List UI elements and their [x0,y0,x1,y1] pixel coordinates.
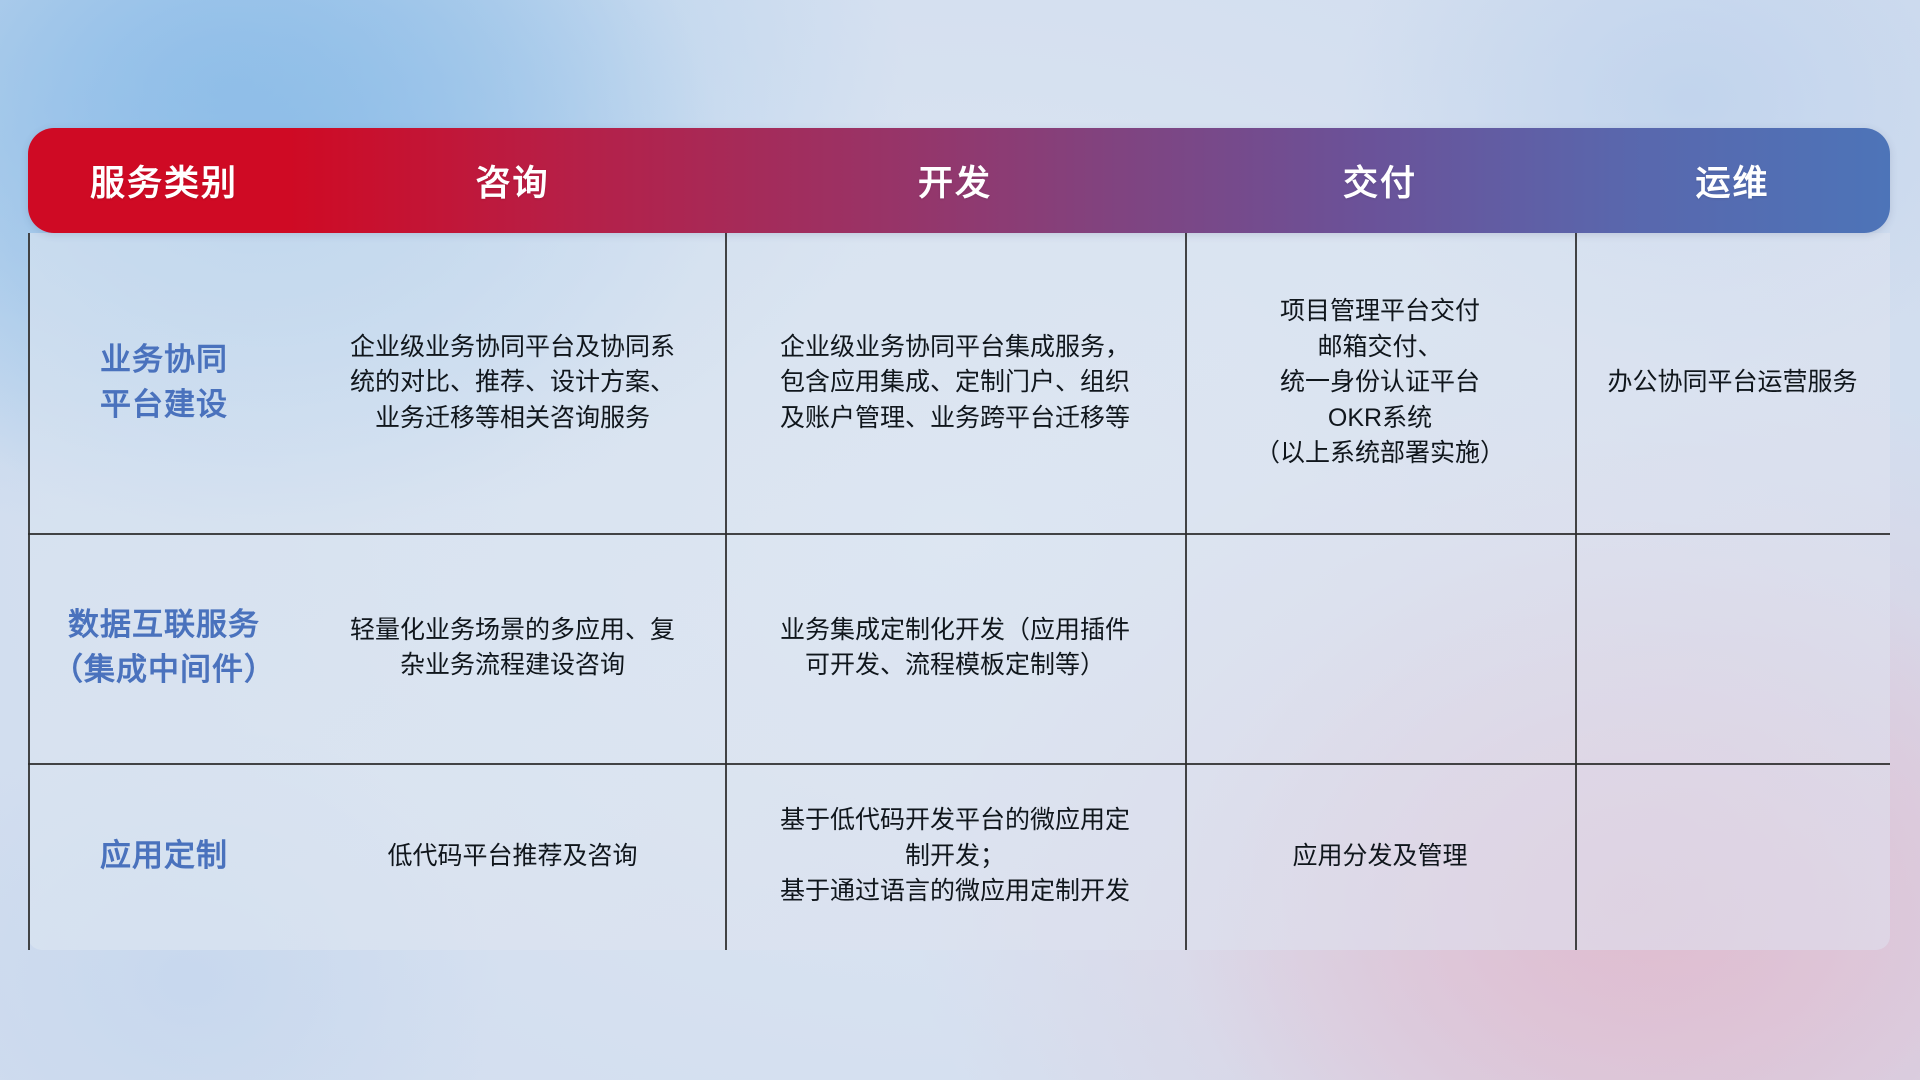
cell-consulting-3: 低代码平台推荐及咨询 [300,763,725,950]
column-header-operations: 运维 [1575,128,1890,233]
cell-development-1: 企业级业务协同平台集成服务， 包含应用集成、定制门户、组织 及账户管理、业务跨平… [725,233,1185,533]
service-matrix-table: 服务类别 咨询 开发 交付 运维 业务协同 平台建设 企业级业务协同平台及协同系… [28,128,1890,950]
cell-category-1: 业务协同 平台建设 [28,233,300,533]
table-header-row: 服务类别 咨询 开发 交付 运维 [28,128,1890,233]
cell-delivery-2 [1185,533,1575,763]
table-row: 数据互联服务 （集成中间件） 轻量化业务场景的多应用、复 杂业务流程建设咨询 业… [28,533,1890,763]
cell-delivery-1: 项目管理平台交付 邮箱交付、 统一身份认证平台 OKR系统 （以上系统部署实施） [1185,233,1575,533]
table-row: 业务协同 平台建设 企业级业务协同平台及协同系 统的对比、推荐、设计方案、 业务… [28,233,1890,533]
slide-canvas: 服务类别 咨询 开发 交付 运维 业务协同 平台建设 企业级业务协同平台及协同系… [0,0,1920,1080]
column-header-consulting: 咨询 [300,128,725,233]
column-header-category: 服务类别 [28,128,300,233]
table-body: 业务协同 平台建设 企业级业务协同平台及协同系 统的对比、推荐、设计方案、 业务… [28,233,1890,950]
column-header-development: 开发 [725,128,1185,233]
cell-delivery-3: 应用分发及管理 [1185,763,1575,950]
grid-line-vertical-3 [1575,233,1577,950]
grid-line-horizontal-1 [28,533,1890,535]
grid-line-vertical-1 [725,233,727,950]
cell-category-2: 数据互联服务 （集成中间件） [28,533,300,763]
cell-category-3: 应用定制 [28,763,300,950]
column-header-delivery: 交付 [1185,128,1575,233]
cell-consulting-1: 企业级业务协同平台及协同系 统的对比、推荐、设计方案、 业务迁移等相关咨询服务 [300,233,725,533]
cell-operations-3 [1575,763,1890,950]
cell-consulting-2: 轻量化业务场景的多应用、复 杂业务流程建设咨询 [300,533,725,763]
cell-operations-2 [1575,533,1890,763]
cell-development-3: 基于低代码开发平台的微应用定 制开发； 基于通过语言的微应用定制开发 [725,763,1185,950]
grid-line-left-edge [28,233,30,950]
grid-line-vertical-2 [1185,233,1187,950]
cell-operations-1: 办公协同平台运营服务 [1575,233,1890,533]
cell-development-2: 业务集成定制化开发（应用插件 可开发、流程模板定制等） [725,533,1185,763]
table-row: 应用定制 低代码平台推荐及咨询 基于低代码开发平台的微应用定 制开发； 基于通过… [28,763,1890,950]
grid-line-horizontal-2 [28,763,1890,765]
